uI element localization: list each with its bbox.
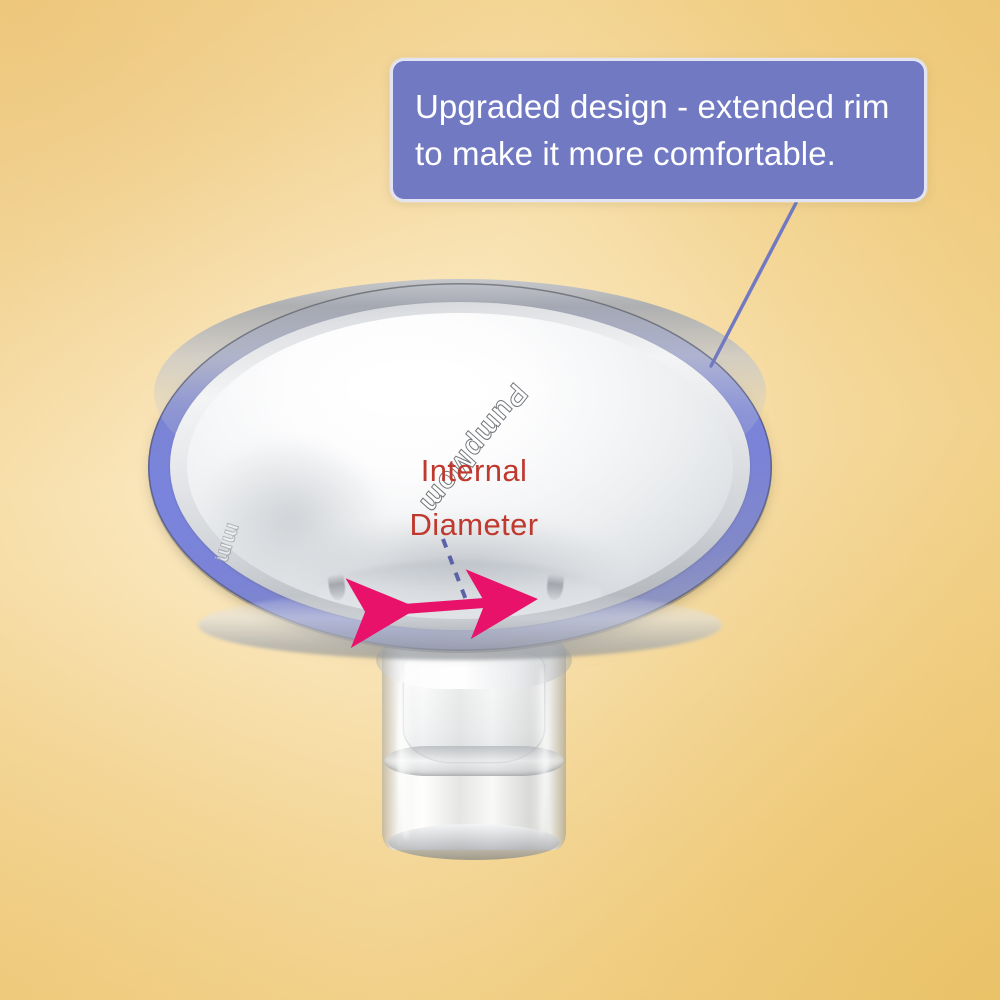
callout-box[interactable]: Upgraded design - extended rim to make i… [390,58,927,202]
flange-bottom-lip [198,590,722,660]
internal-diameter-label: Internal Diameter [349,444,599,552]
neck-highlight-left [398,662,414,840]
flange-neck [382,628,566,860]
neck-bottom-edge [388,824,560,860]
product-image-canvas: PumpMom mm Internal Diameter Upgraded de… [0,0,1000,1000]
internal-diameter-label-line1: Internal [421,453,528,488]
callout-text-line2: to make it more comfortable. [415,130,904,177]
neck-highlight-right [536,668,548,836]
internal-diameter-label-line2: Diameter [349,498,599,552]
callout-text-line1: Upgraded design - extended rim [415,83,904,130]
